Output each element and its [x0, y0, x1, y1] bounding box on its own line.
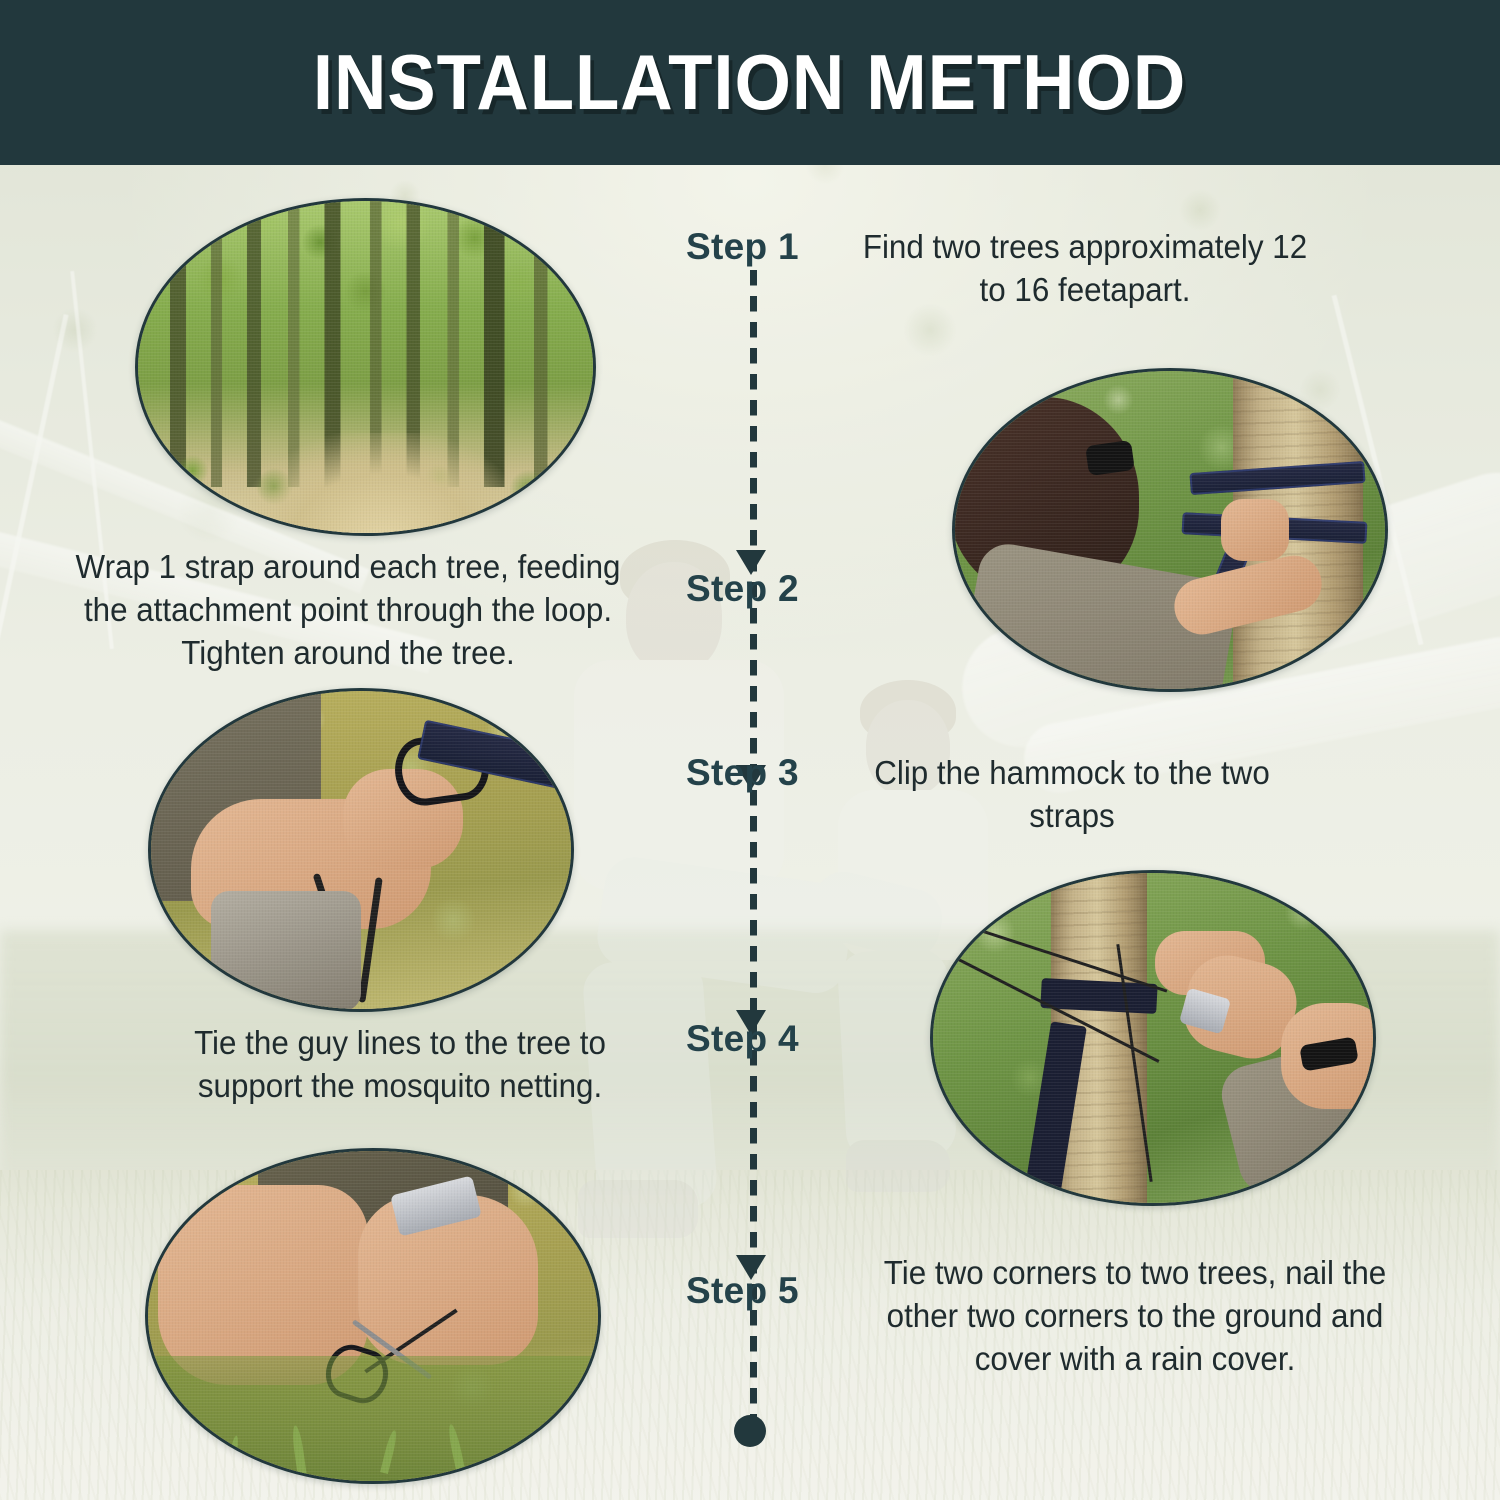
- step-text-5: Tie two corners to two trees, nail the o…: [869, 1252, 1401, 1381]
- timeline-connector: [746, 270, 760, 1445]
- guy-line-photo: [930, 870, 1376, 1206]
- timeline-end-dot: [734, 1415, 766, 1447]
- step-text-4: Tie the guy lines to the tree to support…: [153, 1022, 647, 1108]
- strap-wrap-photo-image: [955, 371, 1385, 689]
- carabiner-photo: [148, 688, 574, 1012]
- carabiner-photo-image: [151, 691, 571, 1009]
- step-label-1: Step 1: [686, 226, 799, 268]
- forest-photo: [135, 198, 596, 536]
- step-text-1: Find two trees approximately 12 to 16 fe…: [862, 226, 1309, 312]
- step-label-5: Step 5: [686, 1270, 799, 1312]
- step-text-3: Clip the hammock to the two straps: [873, 752, 1272, 838]
- infographic-page: INSTALLATION METHOD Step 1 Find two tree…: [0, 0, 1500, 1500]
- header-bar: INSTALLATION METHOD: [0, 0, 1500, 165]
- page-title: INSTALLATION METHOD: [313, 37, 1186, 128]
- ground-stake-photo-image: [148, 1151, 598, 1481]
- guy-line-photo-image: [933, 873, 1373, 1203]
- step-label-3: Step 3: [686, 752, 799, 794]
- forest-photo-image: [138, 201, 593, 533]
- ground-stake-photo: [145, 1148, 601, 1484]
- step-label-4: Step 4: [686, 1018, 799, 1060]
- step-label-2: Step 2: [686, 568, 799, 610]
- step-text-2: Wrap 1 strap around each tree, feeding t…: [63, 546, 633, 675]
- strap-wrap-photo: [952, 368, 1388, 692]
